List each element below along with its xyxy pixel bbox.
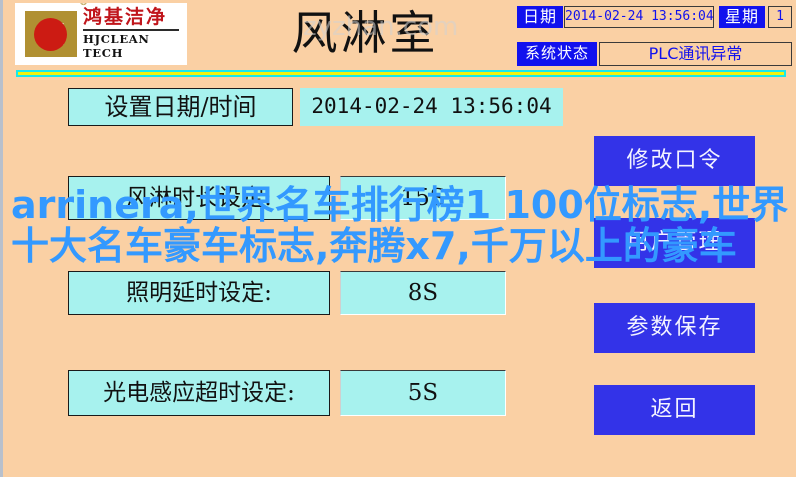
date-label: 日期 [517,6,563,28]
weekday-label: 星期 [719,6,765,28]
shower-duration-value[interactable]: 15S [340,176,506,220]
company-logo: ® 鸿基洁净 HJCLEAN TECH [15,3,187,65]
logo-text-block: ® 鸿基洁净 HJCLEAN TECH [83,8,187,60]
shower-duration-label: 风淋时长设定: [68,176,330,220]
photo-sensor-timeout-value[interactable]: 5S [340,370,506,416]
logo-mark-icon [25,11,77,57]
logo-english-name: HJCLEAN TECH [83,32,187,60]
photo-sensor-timeout-label: 光电感应超时设定: [68,370,330,416]
air-shower-hmi-screen: ® 鸿基洁净 HJCLEAN TECH 风淋室 日期 2014-02-24 13… [0,0,796,477]
set-datetime-value[interactable]: 2014-02-24 13:56:04 [300,88,563,126]
lighting-delay-label: 照明延时设定: [68,271,330,315]
lighting-delay-value[interactable]: 8S [340,271,506,315]
date-value: 2014-02-24 13:56:04 [564,6,714,28]
logo-divider [83,29,179,31]
logo-cn-text: 鸿基洁净 [83,6,167,28]
change-password-button[interactable]: 修改口令 [594,136,755,186]
registered-trademark-icon: ® [79,3,90,8]
system-status-label: 系统状态 [517,42,597,66]
logo-chinese-name: ® 鸿基洁净 [83,8,187,28]
set-datetime-label: 设置日期/时间 [68,88,293,126]
return-button[interactable]: 返回 [594,385,755,435]
save-parameters-button[interactable]: 参数保存 [594,303,755,353]
logo-red-circle-icon [34,18,67,51]
user-management-button[interactable]: 用户管理 [594,218,755,268]
system-status-value: PLC通讯异常 [599,42,792,66]
weekday-value: 1 [768,6,792,28]
page-title: 风淋室 [265,2,465,64]
header-separator-bar [16,70,786,77]
